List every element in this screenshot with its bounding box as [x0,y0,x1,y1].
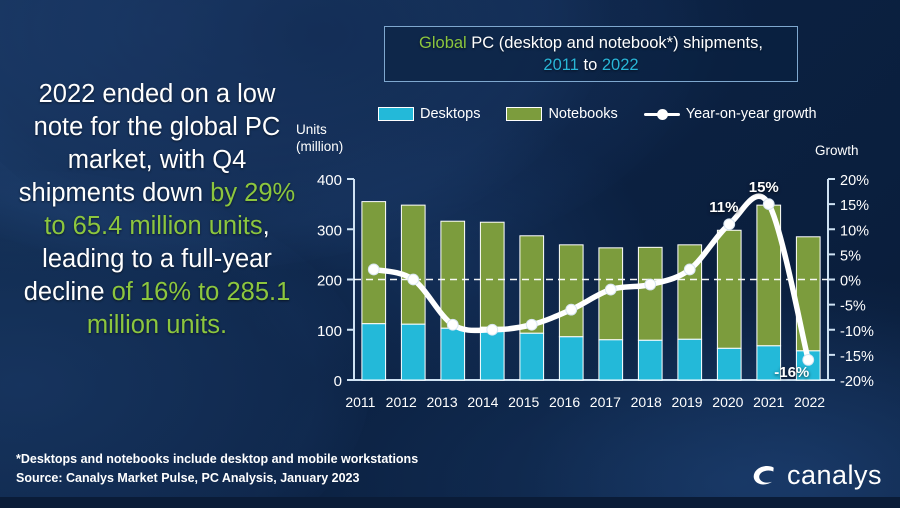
legend-line-marker-icon [644,108,680,120]
x-tick-2012: 2012 [381,394,422,414]
bottom-bar [0,497,900,508]
infographic-canvas: 2022 ended on a low note for the global … [0,0,900,508]
x-axis-labels: 2011201220132014201520162017201820192020… [340,394,830,414]
x-tick-2021: 2021 [748,394,789,414]
y2-tick-20pct: 20% [840,173,869,189]
legend-label-notebooks: Notebooks [548,106,617,122]
growth-point-2021 [763,199,774,210]
right-axis-title: Growth [815,143,859,158]
legend-label-desktops: Desktops [420,106,480,122]
chart-plot-area: 0100200300400-20%-15%-10%-5%0%5%10%15%20… [298,170,883,392]
chart-svg: 0100200300400-20%-15%-10%-5%0%5%10%15%20… [298,170,883,392]
canalys-logo: canalys [748,460,882,491]
x-tick-2011: 2011 [340,394,381,414]
x-tick-2014: 2014 [462,394,503,414]
y-tick-100: 100 [317,323,342,340]
chart-title: Global PC (desktop and notebook*) shipme… [419,32,763,76]
legend-item-notebooks[interactable]: Notebooks [506,106,617,122]
x-tick-2020: 2020 [707,394,748,414]
bar-group-2014 [480,222,504,380]
x-tick-2017: 2017 [585,394,626,414]
y2-tick--5pct: -5% [840,299,866,315]
headline-text: 2022 ended on a low note for the global … [12,78,302,342]
bar-group-2015 [520,236,544,380]
title-year-end: 2022 [602,56,639,74]
y2-tick-15pct: 15% [840,198,869,214]
left-axis-title-line1: Units [296,121,327,138]
y-tick-200: 200 [317,273,342,290]
title-to: to [579,56,602,74]
y2-tick-10pct: 10% [840,223,869,239]
growth-point-2018 [645,279,656,290]
title-main: PC (desktop and notebook*) shipments, [467,34,763,52]
legend-item-desktops[interactable]: Desktops [378,106,480,122]
legend-swatch-desktops-icon [378,107,414,121]
y2-tick--15pct: -15% [840,349,874,365]
canalys-wordmark: canalys [787,460,882,491]
growth-point-2014 [487,324,498,335]
chart-title-box: Global PC (desktop and notebook*) shipme… [384,26,798,82]
growth-point-2020 [724,219,735,230]
x-tick-2019: 2019 [667,394,708,414]
y2-tick--10pct: -10% [840,324,874,340]
left-axis-title-line2: (million) [296,138,343,155]
bar-group-2012 [401,205,425,380]
growth-point-2019 [684,264,695,275]
x-tick-2018: 2018 [626,394,667,414]
chart-legend: Desktops Notebooks Year-on-year growth [378,103,808,125]
footnote-asterisk: *Desktops and notebooks include desktop … [16,450,418,469]
growth-point-2013 [447,319,458,330]
growth-point-2016 [566,304,577,315]
legend-label-growth: Year-on-year growth [686,106,817,122]
y2-tick-5pct: 5% [840,248,861,264]
footnotes: *Desktops and notebooks include desktop … [16,450,418,488]
legend-item-growth[interactable]: Year-on-year growth [644,106,817,122]
canalys-mark-icon [748,461,778,491]
growth-point-2012 [408,274,419,285]
y2-tick--20pct: -20% [840,374,874,390]
title-year-start: 2011 [543,56,578,74]
bar-group-2020 [717,230,741,380]
bar-group-2017 [599,248,623,380]
x-tick-2015: 2015 [503,394,544,414]
growth-label-2021: 15% [749,179,779,196]
y-tick-400: 400 [317,172,342,189]
growth-point-2015 [526,319,537,330]
growth-label-2020: 11% [709,199,738,216]
footnote-source: Source: Canalys Market Pulse, PC Analysi… [16,469,418,488]
growth-point-2017 [605,284,616,295]
x-tick-2016: 2016 [544,394,585,414]
title-word-global: Global [419,34,467,52]
x-tick-2022: 2022 [789,394,830,414]
legend-swatch-notebooks-icon [506,107,542,121]
bar-group-2018 [638,247,662,380]
growth-line [374,196,809,360]
bar-group-2013 [441,221,465,380]
y-tick-0: 0 [334,373,342,390]
growth-label-2022: -16% [774,364,809,381]
growth-point-2011 [368,264,379,275]
headline-segment-3: of 16% to 285.1 million units. [87,278,290,339]
y-tick-300: 300 [317,222,342,239]
y2-tick-0pct: 0% [840,274,861,290]
x-tick-2013: 2013 [422,394,463,414]
bar-group-2011 [362,202,386,380]
